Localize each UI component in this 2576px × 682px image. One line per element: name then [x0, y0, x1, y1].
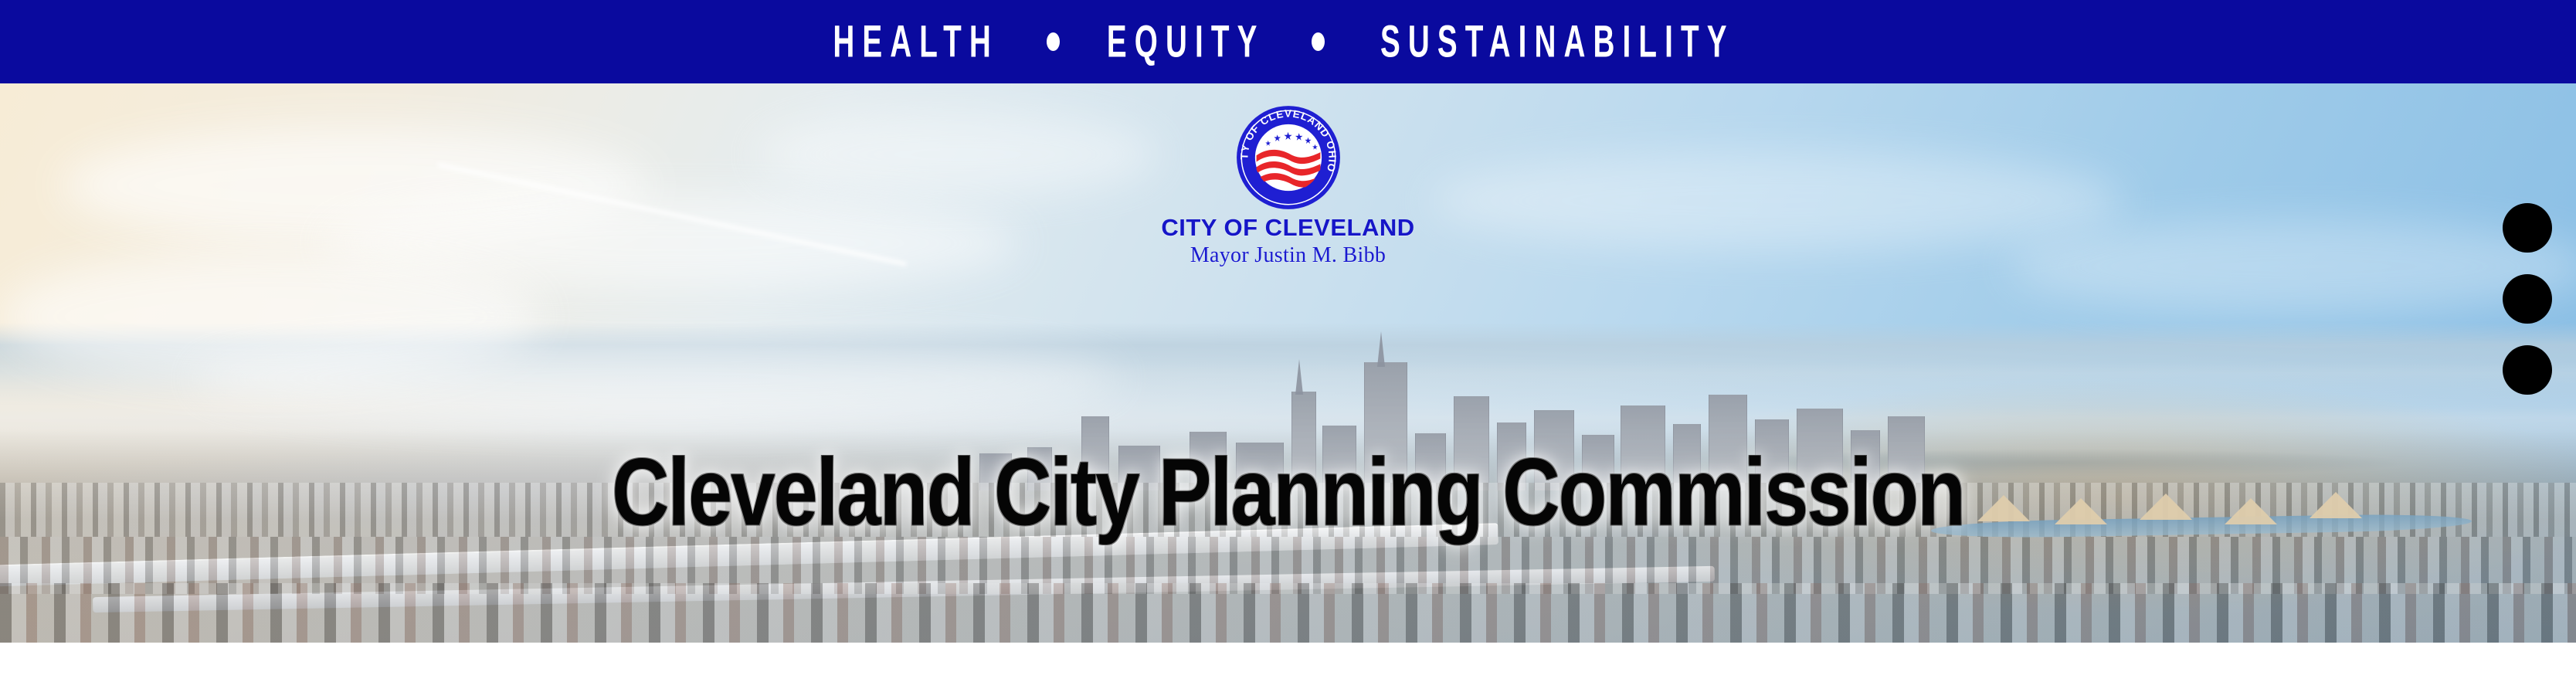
page-root: HEALTH EQUITY SUSTAINABILITY	[0, 0, 2576, 682]
city-name-label: CITY OF CLEVELAND	[1057, 215, 1520, 241]
hero-banner: CITY OF CLEVELAND OHIO	[0, 81, 2576, 643]
city-of-cleveland-seal-icon: CITY OF CLEVELAND OHIO	[1235, 104, 1342, 211]
social-links-rail	[2503, 203, 2552, 395]
page-title: Cleveland City Planning Commission	[0, 446, 2576, 541]
instagram-icon[interactable]	[2503, 274, 2552, 324]
youtube-icon[interactable]	[2503, 203, 2552, 253]
tagline-banner: HEALTH EQUITY SUSTAINABILITY	[0, 0, 2576, 83]
tagline-word-health: HEALTH	[833, 19, 1000, 64]
mayor-name-label: Mayor Justin M. Bibb	[1057, 243, 1520, 268]
city-brand-lockup: CITY OF CLEVELAND OHIO	[1057, 104, 1520, 268]
urban-texture-row	[0, 583, 2576, 643]
facebook-icon[interactable]	[2503, 345, 2552, 395]
tagline-word-sustainability: SUSTAINABILITY	[1380, 19, 1735, 64]
tagline-word-equity: EQUITY	[1107, 19, 1265, 64]
bullet-dot-icon	[1312, 32, 1325, 51]
bullet-dot-icon	[1047, 32, 1060, 51]
